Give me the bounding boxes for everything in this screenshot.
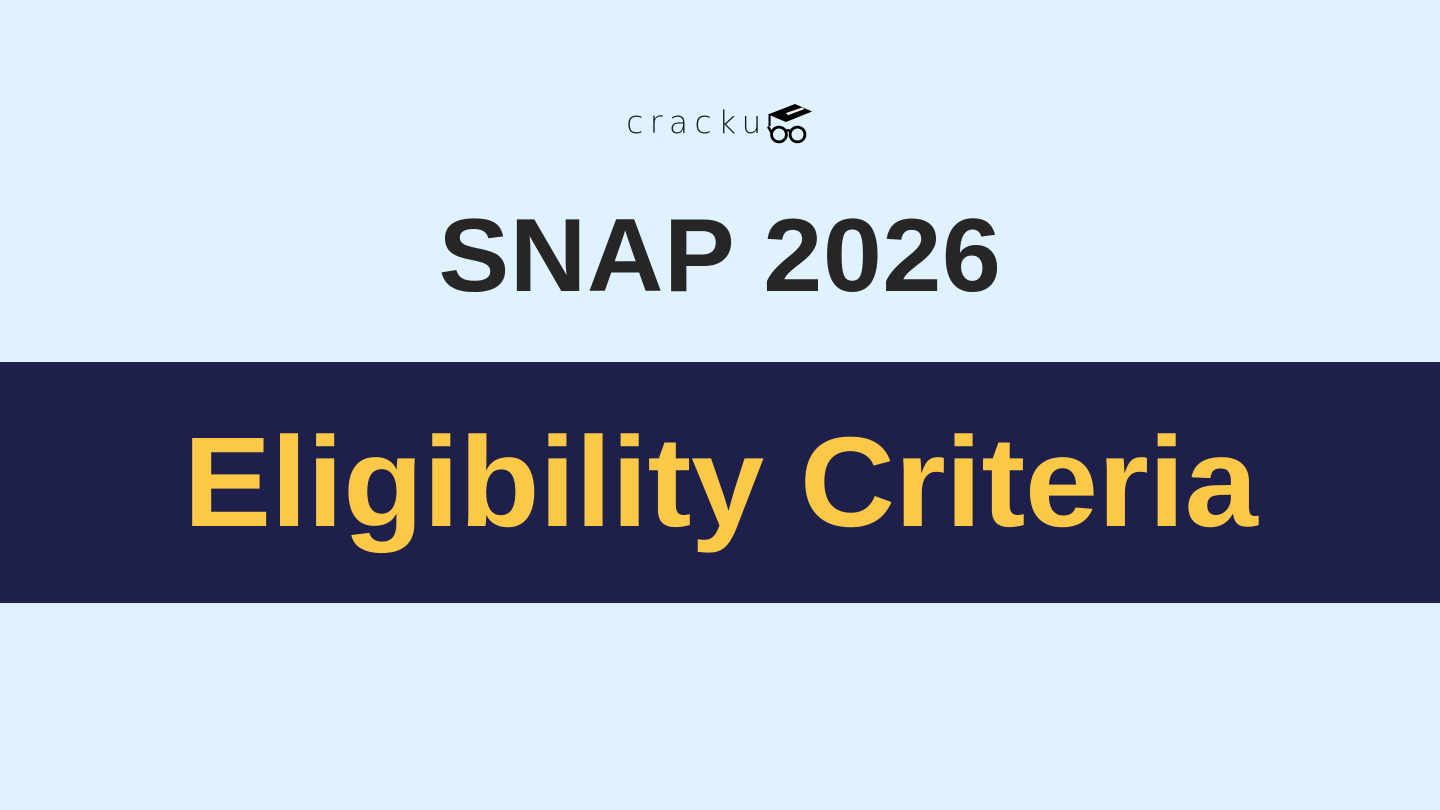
banner-headline: Eligibility Criteria <box>183 419 1257 547</box>
brand-logo[interactable]: cracku <box>0 94 1440 150</box>
page-title-row: SNAP 2026 <box>0 196 1440 316</box>
page-title: SNAP 2026 <box>439 204 1002 308</box>
poster-canvas: cracku SNAP 2026 Eligi <box>0 0 1440 810</box>
brand-wordmark: cracku <box>626 108 767 139</box>
graduation-cap-glasses-icon <box>762 101 814 147</box>
highlight-banner: Eligibility Criteria <box>0 362 1440 603</box>
